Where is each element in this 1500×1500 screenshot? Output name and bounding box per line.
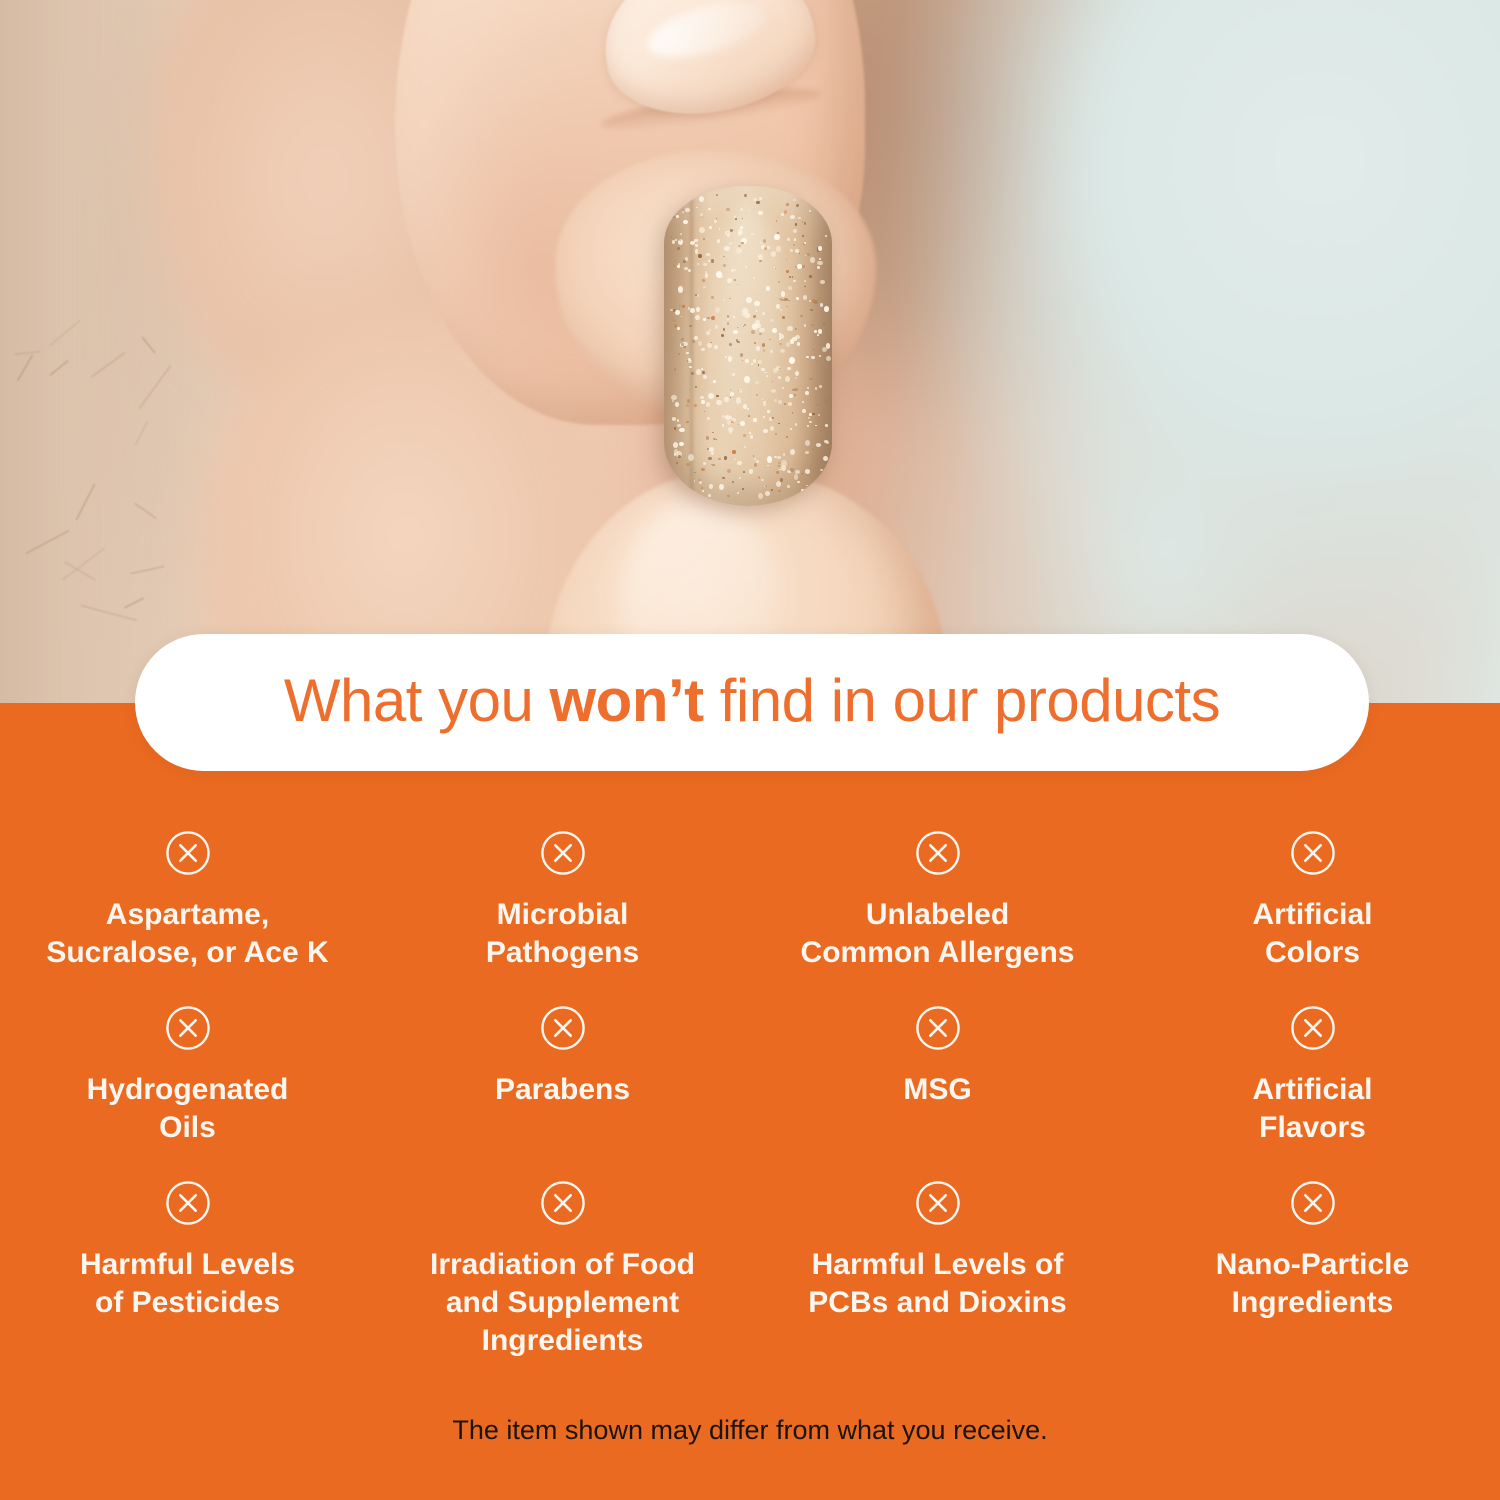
tablet-speck bbox=[703, 286, 706, 289]
tablet-speck bbox=[753, 315, 757, 318]
tablet-speck bbox=[781, 291, 785, 296]
tablet-speck bbox=[785, 376, 790, 382]
tablet-speck bbox=[761, 479, 764, 482]
tablet-speck bbox=[709, 226, 713, 230]
tablet-speck bbox=[695, 386, 697, 388]
headline-card: What you won’t find in our products bbox=[135, 634, 1369, 771]
tablet-speck bbox=[771, 251, 776, 257]
tablet-speck bbox=[671, 395, 677, 400]
product-photo bbox=[0, 0, 1500, 706]
exclusion-item: Unlabeled Common Allergens bbox=[750, 820, 1125, 995]
tablet-speck bbox=[788, 286, 792, 290]
tablet-speck bbox=[779, 334, 785, 339]
tablet-speck bbox=[794, 388, 798, 392]
exclusion-item: Harmful Levels of PCBs and Dioxins bbox=[750, 1170, 1125, 1345]
tablet-speck bbox=[694, 472, 695, 473]
tablet-speck bbox=[807, 425, 809, 427]
tablet-speck bbox=[753, 455, 755, 457]
tablet-speck bbox=[786, 436, 788, 438]
circle-x-icon bbox=[915, 1180, 961, 1226]
tablet-speck bbox=[787, 367, 791, 370]
circle-x-icon bbox=[165, 830, 211, 876]
tablet-speck bbox=[809, 210, 811, 212]
tablet-speck bbox=[682, 211, 684, 213]
tablet-speck bbox=[776, 304, 780, 309]
tablet-speck bbox=[795, 335, 800, 339]
tablet-speck bbox=[712, 432, 714, 433]
tablet-speck bbox=[706, 402, 710, 407]
tablet-speck bbox=[787, 485, 791, 488]
tablet-speck bbox=[809, 275, 811, 278]
page-title: What you won’t find in our products bbox=[284, 671, 1220, 735]
tablet-speck bbox=[702, 279, 705, 282]
tablet-speck bbox=[674, 453, 676, 456]
tablet-speck bbox=[708, 393, 714, 399]
tablet-speck bbox=[762, 343, 765, 347]
tablet-speck bbox=[753, 198, 756, 201]
tablet-speck bbox=[744, 376, 750, 383]
tablet-speck bbox=[772, 328, 777, 333]
tablet-speck bbox=[739, 389, 742, 393]
tablet-speck bbox=[820, 430, 822, 432]
tablet-speck bbox=[674, 260, 675, 262]
tablet-speck bbox=[706, 253, 710, 256]
tablet-speck bbox=[780, 478, 783, 482]
tablet-speck bbox=[739, 477, 741, 479]
tablet-speck bbox=[759, 260, 762, 262]
tablet-speck bbox=[810, 257, 815, 263]
tablet-speck bbox=[769, 417, 772, 421]
exclusion-item: Aspartame, Sucralose, or Ace K bbox=[0, 820, 375, 995]
exclusion-item: Hydrogenated Oils bbox=[0, 995, 375, 1170]
tablet-speck bbox=[719, 228, 721, 230]
tablet-speck bbox=[780, 349, 785, 353]
tablet-speck bbox=[798, 217, 801, 219]
tablet-speck bbox=[701, 348, 705, 351]
tablet-speck bbox=[776, 481, 781, 487]
tablet-speck bbox=[778, 423, 779, 424]
exclusion-item-label: Microbial Pathogens bbox=[486, 896, 639, 972]
tablet-speck bbox=[802, 401, 804, 403]
exclusions-grid: Aspartame, Sucralose, or Ace KMicrobial … bbox=[0, 820, 1500, 1345]
tablet-speck bbox=[792, 389, 795, 391]
disclaimer-note: The item shown may differ from what you … bbox=[0, 1413, 1500, 1447]
tablet-speck bbox=[730, 229, 732, 231]
circle-x-icon bbox=[1290, 1005, 1336, 1051]
tablet-speck bbox=[676, 462, 678, 465]
tablet-speck bbox=[767, 456, 773, 463]
tablet-speck bbox=[805, 469, 811, 473]
tablet-speck bbox=[765, 491, 770, 496]
tablet-speck bbox=[816, 443, 821, 447]
tablet-speck bbox=[747, 408, 749, 410]
circle-x-icon bbox=[165, 1005, 211, 1051]
tablet-speck bbox=[712, 464, 715, 466]
tablet-speck bbox=[678, 455, 681, 458]
tablet-speck bbox=[679, 428, 684, 432]
circle-x-icon bbox=[1290, 830, 1336, 876]
headline-emphasis: won’t bbox=[550, 667, 704, 734]
tablet-speck bbox=[722, 424, 725, 427]
tablet-speck bbox=[760, 241, 762, 243]
tablet-speck bbox=[746, 297, 751, 303]
tablet-speck bbox=[677, 265, 680, 268]
exclusion-item-label: Parabens bbox=[495, 1071, 630, 1109]
circle-x-icon bbox=[540, 1005, 586, 1051]
tablet-speck bbox=[675, 402, 679, 407]
tablet-speck bbox=[703, 318, 706, 321]
tablet-speck bbox=[699, 227, 705, 233]
tablet-speck bbox=[716, 400, 722, 406]
tablet-speck bbox=[812, 204, 814, 206]
tablet-speck bbox=[729, 343, 732, 346]
tablet-speck bbox=[711, 296, 714, 300]
tablet-speck bbox=[795, 328, 797, 330]
tablet-speck bbox=[685, 208, 689, 212]
tablet-speck bbox=[763, 429, 768, 433]
tablet-speck bbox=[808, 417, 810, 419]
tablet-speck bbox=[711, 316, 715, 320]
exclusion-item-label: Irradiation of Food and Supplement Ingre… bbox=[430, 1246, 695, 1360]
exclusion-item-label: Nano-Particle Ingredients bbox=[1216, 1246, 1409, 1322]
tablet-speck bbox=[708, 494, 712, 497]
tablet-speck bbox=[724, 397, 729, 403]
tablet-speck bbox=[695, 315, 700, 320]
exclusion-item: Microbial Pathogens bbox=[375, 820, 750, 995]
tablet-speck bbox=[817, 334, 819, 336]
tablet-speck bbox=[698, 479, 701, 482]
tablet-speck bbox=[708, 457, 712, 460]
tablet-speck bbox=[765, 485, 766, 486]
tablet-speck bbox=[790, 215, 795, 219]
exclusion-item-label: Aspartame, Sucralose, or Ace K bbox=[46, 896, 328, 972]
tablet-speck bbox=[722, 415, 725, 418]
tablet-speck bbox=[724, 456, 727, 460]
tablet-speck bbox=[742, 488, 744, 490]
tablet-speck bbox=[780, 309, 782, 311]
tablet-speck bbox=[672, 417, 676, 420]
tablet-speck bbox=[769, 339, 770, 340]
tablet-speck bbox=[776, 220, 778, 222]
tablet-speck bbox=[729, 242, 733, 245]
circle-x-icon bbox=[165, 1180, 211, 1226]
tablet-speck bbox=[778, 281, 780, 283]
tablet-speck bbox=[758, 364, 759, 366]
tablet-speck bbox=[676, 480, 681, 485]
tablet-speck bbox=[777, 456, 781, 459]
tablet-speck bbox=[776, 246, 780, 252]
tablet-speck bbox=[677, 247, 680, 250]
tablet-speck bbox=[686, 404, 690, 407]
tablet-speck bbox=[789, 276, 792, 279]
tablet-speck bbox=[716, 218, 717, 219]
tablet-speck bbox=[805, 451, 809, 455]
tablet-speck bbox=[820, 303, 824, 306]
tablet-speck bbox=[786, 270, 789, 273]
tablet-speck bbox=[778, 465, 780, 467]
tablet-speck bbox=[793, 244, 795, 246]
tablet-speck bbox=[714, 220, 717, 223]
exclusion-item: Harmful Levels of Pesticides bbox=[0, 1170, 375, 1345]
tablet-speck bbox=[730, 392, 734, 396]
tablet-speck bbox=[709, 484, 714, 489]
tablet-speck bbox=[686, 463, 690, 466]
tablet-speck bbox=[749, 432, 751, 434]
tablet-speck bbox=[794, 394, 796, 396]
tablet-speck bbox=[732, 481, 734, 483]
circle-x-icon bbox=[1290, 1180, 1336, 1226]
tablet-speck bbox=[698, 341, 703, 346]
tablet-speck bbox=[688, 360, 692, 364]
tablet-speck bbox=[787, 238, 791, 241]
tablet-speck bbox=[796, 297, 799, 300]
tablet-speck bbox=[758, 476, 761, 479]
tablet-speck bbox=[737, 284, 738, 285]
tablet-speck bbox=[675, 478, 678, 480]
tablet-speck bbox=[705, 273, 709, 277]
exclusion-item-label: MSG bbox=[903, 1071, 971, 1109]
tablet-speck bbox=[696, 369, 701, 375]
tablet-speck bbox=[825, 424, 828, 428]
tablet-speck bbox=[804, 242, 806, 244]
tablet-speck bbox=[675, 310, 680, 315]
exclusion-item-label: Hydrogenated Oils bbox=[87, 1071, 289, 1147]
tablet-speck bbox=[803, 295, 807, 300]
tablet-speck bbox=[709, 329, 711, 331]
tablet-speck bbox=[766, 286, 770, 291]
tablet-speck bbox=[743, 471, 745, 473]
tablet-speck bbox=[745, 266, 747, 267]
tablet-speck bbox=[692, 340, 695, 343]
circle-x-icon bbox=[540, 830, 586, 876]
tablet-speck bbox=[787, 470, 790, 473]
tablet-speck bbox=[716, 194, 718, 196]
tablet-speck bbox=[781, 460, 787, 467]
tablet-speck bbox=[738, 229, 743, 235]
tablet-speck bbox=[715, 307, 720, 313]
tablet-speck bbox=[728, 427, 733, 432]
tablet-speck bbox=[782, 316, 785, 319]
tablet-speck bbox=[778, 400, 783, 404]
tablet-speck bbox=[824, 232, 825, 233]
tablet-speck bbox=[763, 239, 767, 243]
tablet-speck bbox=[786, 203, 789, 206]
tablet-speck bbox=[820, 469, 823, 471]
exclusion-item: Parabens bbox=[375, 995, 750, 1170]
tablet-speck bbox=[736, 248, 741, 254]
tablet-speck bbox=[778, 376, 781, 379]
exclusion-item-label: Harmful Levels of Pesticides bbox=[80, 1246, 295, 1322]
tablet-speck bbox=[767, 465, 769, 467]
tablet-speck bbox=[756, 201, 760, 204]
tablet-speck bbox=[744, 194, 747, 197]
tablet-speck bbox=[697, 294, 700, 296]
tablet-speck bbox=[782, 387, 784, 388]
tablet-speck bbox=[683, 346, 685, 348]
exclusion-item-label: Artificial Colors bbox=[1252, 896, 1372, 972]
tablet-speck bbox=[724, 246, 729, 251]
tablet-speck bbox=[722, 477, 725, 480]
tablet-speck bbox=[711, 259, 714, 263]
tablet-speck bbox=[696, 307, 700, 312]
tablet-speck bbox=[779, 343, 782, 345]
tablet-speck bbox=[783, 453, 786, 456]
tablet-speck bbox=[717, 239, 720, 243]
tablet-speck bbox=[758, 493, 763, 499]
headline-before: What you bbox=[284, 667, 550, 734]
tablet-speck bbox=[776, 471, 779, 474]
tablet-speck bbox=[795, 423, 798, 426]
tablet-speck bbox=[818, 414, 820, 416]
tablet-speck bbox=[715, 325, 719, 329]
tablet-speck bbox=[773, 368, 778, 373]
tablet-speck bbox=[772, 381, 773, 382]
tablet-speck bbox=[754, 301, 760, 305]
tablet-speck bbox=[788, 300, 790, 301]
tablet-speck bbox=[824, 306, 829, 312]
tablet-speck bbox=[713, 380, 717, 383]
tablet-speck bbox=[727, 495, 730, 497]
tablet-speck bbox=[774, 234, 780, 240]
tablet-speck bbox=[737, 492, 739, 494]
tablet-speck bbox=[795, 371, 799, 376]
tablet-speck bbox=[679, 442, 684, 447]
tablet-speck bbox=[737, 461, 742, 466]
tablet-speck bbox=[718, 458, 721, 460]
exclusion-item: Irradiation of Food and Supplement Ingre… bbox=[375, 1170, 750, 1345]
tablet-speck bbox=[814, 300, 817, 304]
exclusion-item: Artificial Flavors bbox=[1125, 995, 1500, 1170]
tablet-speck bbox=[749, 469, 753, 473]
tablet-speck bbox=[681, 343, 684, 346]
tablet-speck bbox=[734, 458, 736, 460]
tablet-speck bbox=[787, 326, 793, 331]
tablet-speck bbox=[732, 373, 735, 376]
tablet-speck bbox=[789, 394, 793, 398]
tablet-speck bbox=[735, 218, 737, 220]
tablet-speck bbox=[795, 470, 800, 474]
circle-x-icon bbox=[915, 1005, 961, 1051]
exclusion-item-label: Harmful Levels of PCBs and Dioxins bbox=[808, 1246, 1066, 1322]
tablet-speck bbox=[732, 450, 735, 454]
tablet-speck bbox=[801, 489, 804, 492]
tablet-speck bbox=[825, 399, 828, 402]
tablet-speck bbox=[703, 238, 705, 240]
tablet-speck bbox=[683, 220, 688, 224]
tablet-speck bbox=[703, 263, 707, 266]
tablet-speck bbox=[737, 341, 740, 344]
tablet-speck bbox=[786, 342, 790, 347]
tablet-speck bbox=[744, 446, 746, 448]
product-infographic: What you won’t find in our products Aspa… bbox=[0, 0, 1500, 1500]
tablet-speck bbox=[811, 493, 814, 496]
tablet-speck bbox=[759, 197, 763, 201]
tablet-speck bbox=[748, 415, 750, 417]
tablet-speck bbox=[786, 306, 788, 308]
tablet-speck bbox=[819, 258, 821, 260]
tablet-speck bbox=[817, 266, 820, 269]
tablet-speck bbox=[778, 490, 781, 492]
exclusion-item: Artificial Colors bbox=[1125, 820, 1500, 995]
tablet-speck bbox=[781, 299, 784, 301]
tablet-speck bbox=[714, 345, 718, 349]
tablet-speck bbox=[731, 269, 734, 272]
tablet-speck bbox=[726, 208, 730, 211]
tablet-speck bbox=[817, 297, 821, 300]
tablet-speck bbox=[771, 389, 776, 393]
tablet-speck bbox=[702, 490, 704, 492]
tablet-speck bbox=[804, 324, 806, 326]
tablet-speck bbox=[727, 469, 731, 473]
tablet-speck bbox=[793, 280, 795, 282]
exclusion-item-label: Unlabeled Common Allergens bbox=[801, 896, 1075, 972]
tablet-speck bbox=[805, 391, 809, 396]
tablet-speck bbox=[781, 213, 784, 216]
exclusion-item: Nano-Particle Ingredients bbox=[1125, 1170, 1500, 1345]
tablet-speck bbox=[797, 264, 803, 269]
tablet-speck bbox=[731, 418, 736, 422]
tablet-speck bbox=[677, 419, 680, 421]
tablet-speck bbox=[784, 403, 786, 405]
tablet-speck bbox=[793, 229, 797, 233]
tablet-speck bbox=[719, 484, 724, 490]
tablet-speck bbox=[811, 356, 815, 359]
circle-x-icon bbox=[540, 1180, 586, 1226]
tablet-speck bbox=[679, 305, 680, 307]
tablet-speck bbox=[770, 426, 774, 431]
tablet-speck bbox=[775, 433, 778, 435]
tablet-speck bbox=[689, 325, 692, 328]
circle-x-icon bbox=[915, 830, 961, 876]
tablet-speck bbox=[673, 206, 676, 209]
tablet-speck bbox=[716, 395, 719, 398]
tablet-speck bbox=[790, 428, 792, 430]
tablet-speck bbox=[706, 436, 709, 440]
tablet-icon bbox=[664, 186, 832, 506]
tablet-speck bbox=[771, 489, 774, 491]
tablet-speck bbox=[779, 368, 780, 369]
tablet-speck bbox=[689, 366, 692, 368]
tablet-speck bbox=[790, 249, 793, 253]
tablet-speck bbox=[694, 404, 697, 407]
tablet-speck bbox=[806, 253, 809, 257]
tablet-speck bbox=[745, 359, 749, 363]
tablet-speck bbox=[756, 324, 760, 329]
tablet-speck bbox=[802, 221, 803, 223]
tablet-speck bbox=[707, 343, 712, 349]
tablet-speck bbox=[784, 210, 787, 214]
tablet-speck bbox=[742, 308, 747, 314]
tablet-speck bbox=[716, 271, 722, 278]
tablet-speck bbox=[670, 309, 673, 311]
tablet-speck bbox=[774, 399, 777, 402]
headline-after: find in our products bbox=[704, 667, 1220, 734]
tablet-speck bbox=[766, 375, 769, 377]
exclusion-item: MSG bbox=[750, 995, 1125, 1170]
tablet-speck bbox=[802, 473, 804, 475]
tablet-speck bbox=[802, 235, 804, 237]
tablet-speck bbox=[750, 435, 754, 439]
tablet-speck bbox=[716, 439, 717, 440]
tablet-edge-left bbox=[664, 186, 710, 506]
exclusion-item-label: Artificial Flavors bbox=[1252, 1071, 1372, 1147]
tablet-speck bbox=[737, 327, 738, 329]
tablet-speck bbox=[695, 249, 699, 253]
tablet-speck bbox=[818, 246, 823, 251]
tablet-speck bbox=[806, 485, 808, 487]
tablet-speck bbox=[786, 259, 787, 260]
tablet-speck bbox=[672, 400, 674, 402]
